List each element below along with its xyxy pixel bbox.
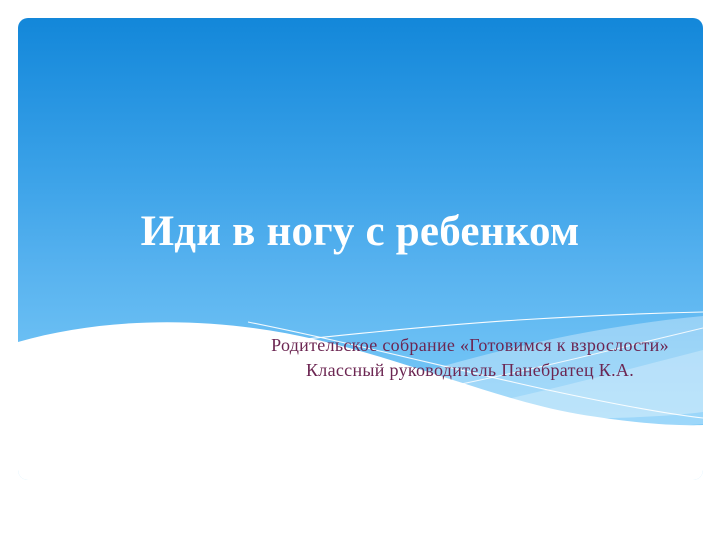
slide-subtitle-line-1: Родительское собрание «Готовимся к взрос… [250,333,690,358]
slide-title-block: Иди в ногу с ребенком [0,204,720,260]
slide-canvas: Иди в ногу с ребенком Родительское собра… [0,0,720,540]
slide-title: Иди в ногу с ребенком [141,204,580,260]
slide-subtitle-line-2: Классный руководитель Панебратец К.А. [250,358,690,383]
slide-subtitle-block: Родительское собрание «Готовимся к взрос… [250,333,690,383]
